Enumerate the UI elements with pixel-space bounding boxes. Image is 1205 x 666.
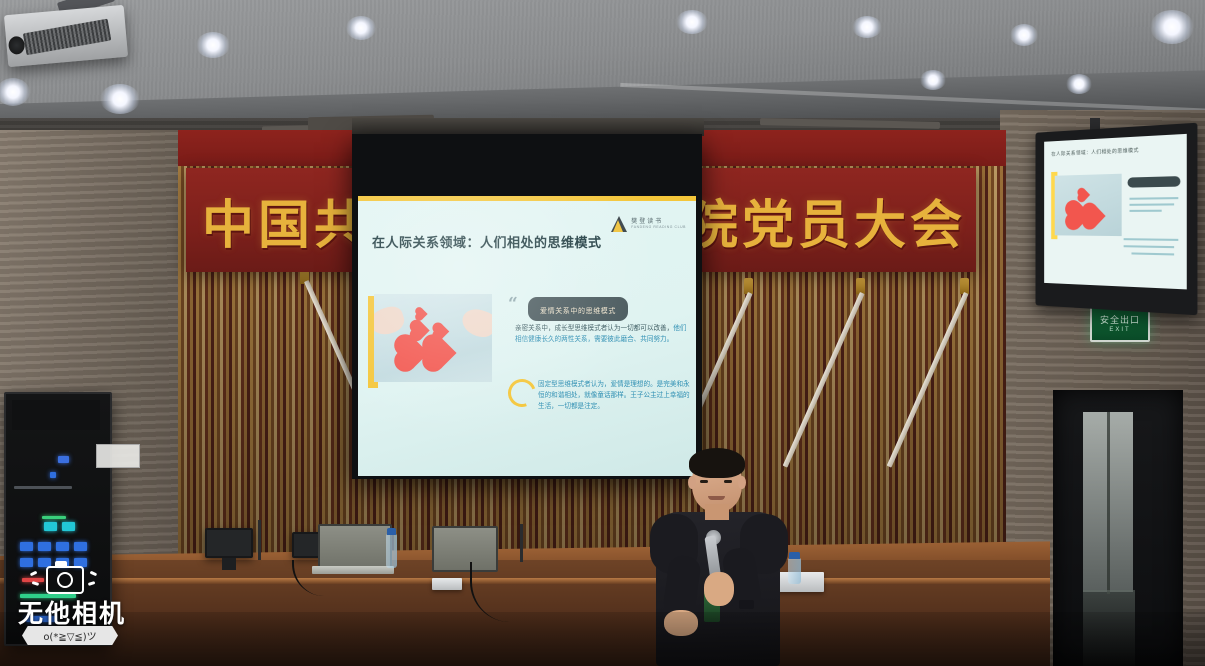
status-led [50,472,56,478]
paragraph-1-rest: 改善， [653,324,673,332]
wall-sign [96,444,140,468]
ceiling-light [852,16,882,38]
tv-text-line [1124,238,1179,241]
sparkle-icon [32,581,39,586]
desk-monitor[interactable] [205,528,253,558]
ceiling-light [1010,24,1038,46]
water-bottle-cap [789,552,800,559]
sparkle-icon [30,571,37,576]
foreground-shadow [0,612,1205,666]
ceiling-light [1066,74,1092,94]
rack-button[interactable] [74,542,87,551]
ceiling-light [196,32,230,58]
projector-vent [23,19,112,56]
paragraph-1-plain: 亲密关系中，成长型思维模式者认为一切都可以 [515,324,653,332]
desk-monitor-screen [207,530,251,556]
sparkle-icon [88,581,95,586]
rack-button[interactable] [56,542,69,551]
head-table-edge [0,578,1050,584]
tv-slide-title: 在人际关系领域：人们相处的思维模式 [1051,147,1139,158]
logo-text-en: FANDENG READING CLUB [631,226,686,229]
speaker-mouth [708,496,725,500]
tv-text-line [1130,203,1175,205]
status-led [42,516,66,519]
heart-icon [1084,205,1105,227]
exit-sign-cn: 安全出口 [1100,316,1140,325]
rack-unit [12,400,100,430]
slide-title: 在人际关系领域：人们相处的思维模式 [372,232,602,251]
laptop-keyboard[interactable] [312,566,394,574]
ceiling-projector [4,5,128,67]
tv-text-line [1124,245,1174,248]
camera-icon [46,566,84,594]
ceiling-light [346,16,376,40]
table-microphone[interactable] [258,520,261,560]
slide-top-rule [358,196,696,201]
slide-paragraph-1: 亲密关系中，成长型思维模式者认为一切都可以改善，他们相信健康长久的两性关系，需要… [515,323,687,345]
watermark-emoticon: o(*≧▽≦)ツ [43,628,96,643]
slide-badge: 爱情关系中的思维模式 [528,297,628,321]
logo-text-cn: 樊登读书 [631,219,686,225]
tv-photo-thumb [1055,174,1122,236]
laptop-screen[interactable] [318,524,392,572]
speaker-eye [724,480,732,483]
speaker-eye [700,480,708,483]
speaker-watch [739,600,754,609]
speaker-ear [688,476,696,489]
door-split-line [1107,412,1110,594]
water-bottle[interactable] [386,534,397,568]
speaker-hand-holding-mic [704,572,734,606]
tv-text-line [1131,252,1174,255]
mountain-logo-icon [611,216,627,232]
slide-paragraph-2: 固定型思维模式者认为，爱情是理想的。是完美和永恒的和谐相处，就像童话那样。王子公… [538,379,690,412]
slide-logo: 樊登读书 FANDENG READING CLUB [611,216,686,232]
rack-button[interactable] [38,542,51,551]
desk-nameplate [432,578,462,590]
side-monitor[interactable]: 在人际关系领域：人们相处的思维模式 [1035,123,1197,316]
heart-icon [425,337,456,368]
heart-icon [416,308,427,319]
water-bottle-cap [387,528,396,535]
quote-mark-icon: “ [508,296,518,313]
presentation-slide: 樊登读书 FANDENG READING CLUB 在人际关系领域：人们相处的思… [358,196,696,476]
sparkle-icon [90,571,97,576]
watermark-app-name: 无他相机 [8,594,136,630]
heart-icon [1078,189,1090,201]
tv-badge [1128,176,1181,188]
slide-badge-label: 爱情关系中的思维模式 [540,307,616,315]
water-bottle[interactable] [788,558,801,584]
tv-text-line [1130,210,1162,212]
rack-button[interactable] [62,522,75,531]
projection-screen[interactable]: 樊登读书 FANDENG READING CLUB 在人际关系领域：人们相处的思… [352,134,702,479]
tv-text-line [1130,197,1179,200]
ring-accent-icon [503,374,540,411]
watermark-ribbon: o(*≧▽≦)ツ [22,626,118,645]
banner-text-right: 院党员大会 [686,183,966,258]
exit-sign-en: EXIT [1109,327,1130,333]
ceiling-light [920,70,946,90]
speaker-ear [738,476,746,489]
speaker-hair [689,448,745,478]
side-monitor-screen: 在人际关系领域：人们相处的思维模式 [1044,134,1187,290]
rack-button[interactable] [44,522,57,531]
camera-app-watermark: 无他相机 o(*≧▽≦)ツ [8,560,136,660]
speaker-neck [705,504,729,520]
ceiling-light [100,84,140,114]
desk-monitor-stand [222,558,236,570]
heart-icon [434,324,450,340]
hand-shape [459,305,492,340]
rack-button[interactable] [20,542,33,551]
ceiling-light [1150,10,1194,44]
status-led [14,486,72,489]
slide-photo [374,294,492,382]
table-microphone[interactable] [520,524,523,562]
ceiling-light [676,10,708,34]
conference-hall-photo: 安全出口 EXIT 在人际关系领域：人们相处的思维模式 [0,0,1205,666]
status-led [58,456,69,463]
